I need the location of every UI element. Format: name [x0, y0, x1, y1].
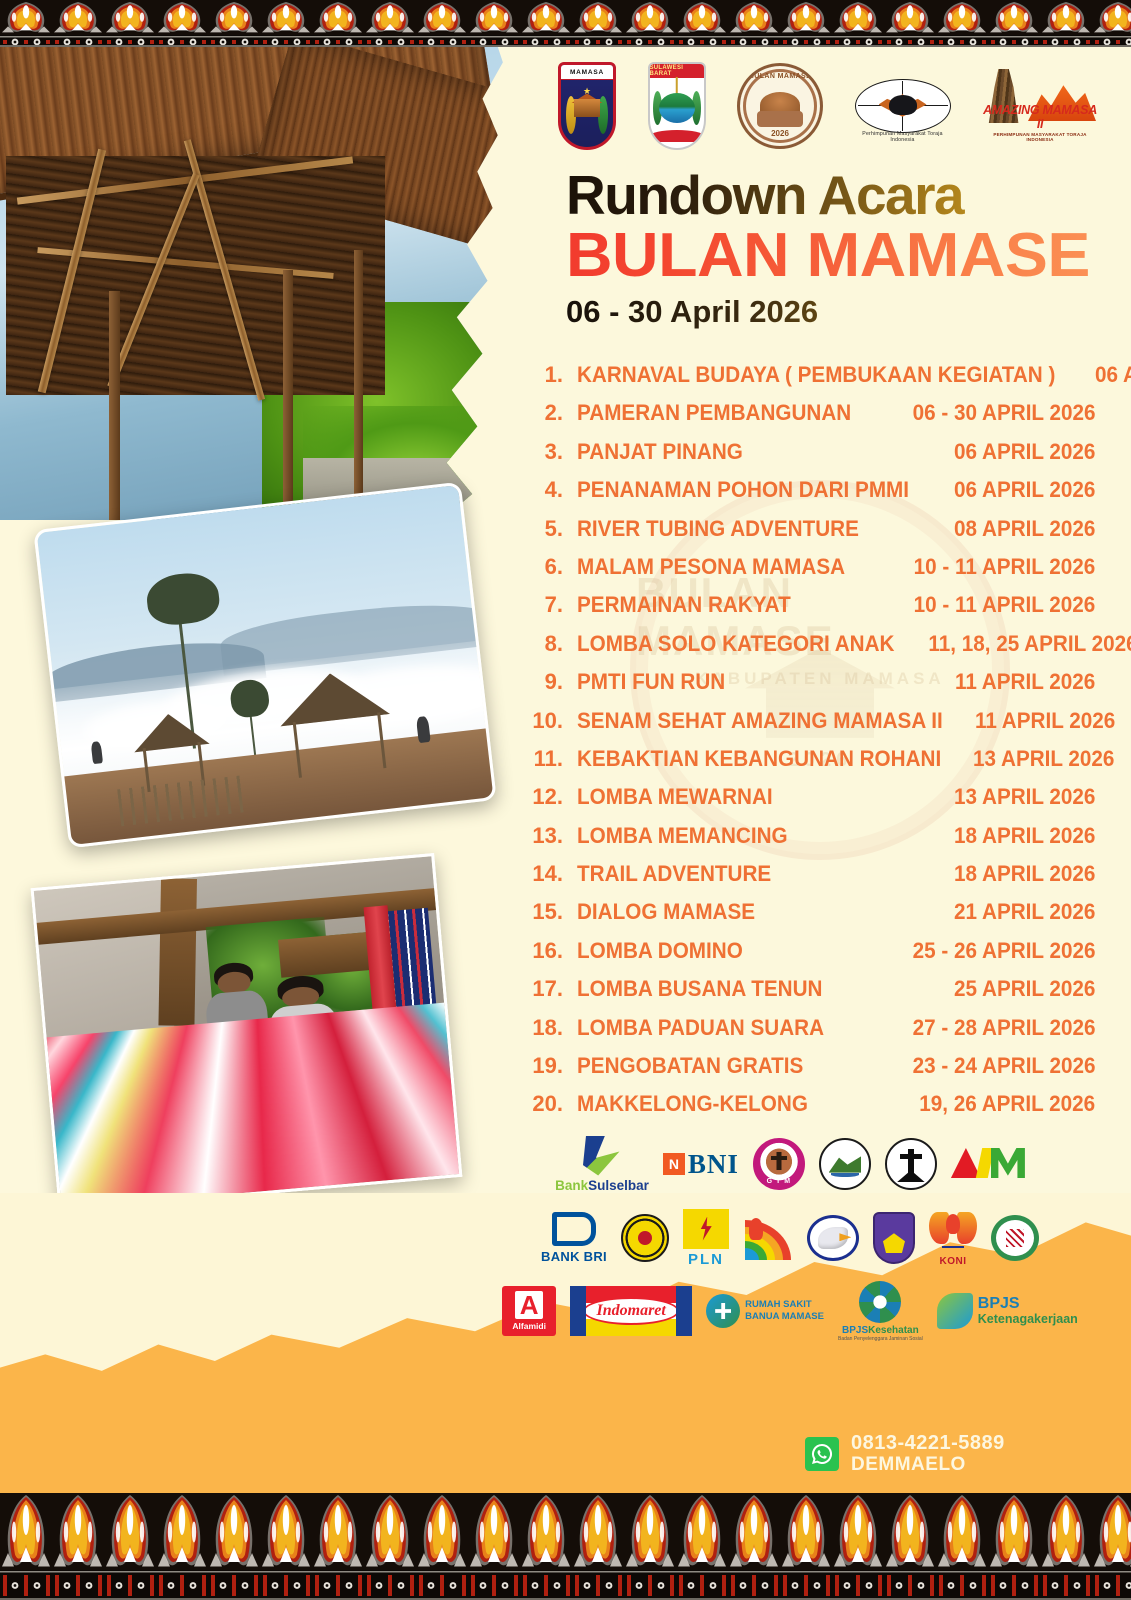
tongkonan-traditional-house-photo	[0, 0, 508, 520]
sulselbar-mark-icon	[583, 1136, 621, 1176]
event-row: 20.MAKKELONG-KELONG19, 26 APRIL 2026	[525, 1091, 1095, 1129]
shuttlecock-icon	[1006, 1229, 1024, 1247]
toraja-motif	[312, 0, 364, 47]
event-name: MALAM PESONA MAMASA	[577, 554, 882, 580]
toraja-motif	[520, 0, 572, 47]
toraja-motif	[1040, 0, 1092, 47]
indomaret-blue-right	[676, 1286, 692, 1336]
event-row: 1.KARNAVAL BUDAYA ( PEMBUKAAN KEGIATAN )…	[525, 362, 1095, 400]
event-row: 8.LOMBA SOLO KATEGORI ANAK11, 18, 25 APR…	[525, 631, 1095, 669]
event-name: PMTI FUN RUN	[577, 669, 924, 695]
event-number: 4.	[525, 477, 577, 503]
toraja-motif	[156, 0, 208, 47]
event-number: 19.	[525, 1053, 577, 1079]
indomaret-text: Indomaret	[583, 1297, 679, 1325]
contact-person-name: DEMMAELO	[851, 1454, 1005, 1475]
bni-logo: N BNI	[663, 1149, 739, 1180]
sponsor-row-3: A Alfamidi Indomaret RUMAH SAKIT BANUA M…	[480, 1278, 1100, 1344]
event-row: 7.PERMAINAN RAKYAT10 - 11 APRIL 2026	[525, 592, 1095, 630]
amazing-mamasa-subtitle: PERHIMPUNAN MASYARAKAT TORAJA INDONESIA	[982, 132, 1098, 142]
event-name: TRAIL ADVENTURE	[577, 861, 923, 887]
event-number: 10.	[525, 708, 577, 734]
seal-core-icon	[636, 1229, 654, 1247]
indomaret-blue-left	[570, 1286, 586, 1336]
lightning-bolt-icon	[698, 1217, 714, 1241]
event-name: PANJAT PINANG	[577, 439, 923, 465]
bpjs-t-text-2: Ketenagakerjaan	[978, 1313, 1078, 1327]
rumah-sakit-banua-mamase-logo: RUMAH SAKIT BANUA MAMASE	[706, 1294, 824, 1328]
event-number: 5.	[525, 516, 577, 542]
toraja-motif	[832, 1493, 884, 1600]
purple-shield-icon	[873, 1212, 915, 1264]
title-block: Rundown Acara BULAN MAMASE 06 - 30 April…	[566, 168, 1086, 330]
hospital-text-2: BANUA MAMASE	[745, 1311, 824, 1323]
misty-mountain-viewpoint-photo	[33, 482, 496, 849]
toraja-motif	[416, 0, 468, 47]
event-number: 9.	[525, 669, 577, 695]
toraja-motif	[936, 0, 988, 47]
event-name: PENANAMAN POHON DARI PMMI	[577, 477, 923, 503]
toraja-motif	[780, 0, 832, 47]
toraja-motif	[1092, 0, 1131, 47]
header-logo-row: MAMASA ★ SULAWESI BARAT BULAN MAMASE 202…	[558, 56, 1098, 156]
cross-vertical-icon	[776, 1152, 781, 1170]
event-name: LOMBA MEWARNAI	[577, 784, 923, 810]
bni-mark-icon: N	[663, 1153, 685, 1175]
event-number: 20.	[525, 1091, 577, 1117]
toraja-motif	[260, 1493, 312, 1600]
perhimpunan-masyarakat-toraja-indonesia-logo: Perhimpunan Masyarakat Toraja Indonesia	[855, 71, 951, 141]
toraja-motif	[780, 1493, 832, 1600]
toraja-pattern-strip	[0, 1493, 1131, 1600]
event-number: 3.	[525, 439, 577, 465]
medical-cross-icon	[715, 1303, 731, 1319]
cross-horizontal-icon	[771, 1156, 787, 1160]
bpjs-k-subtitle: Badan Penyelenggara Jaminan Sosial	[838, 1336, 923, 1342]
aim-letter-m-icon	[991, 1148, 1025, 1178]
event-row: 19.PENGOBATAN GRATIS23 - 24 APRIL 2026	[525, 1053, 1095, 1091]
toraja-motif	[1092, 1493, 1131, 1600]
event-number: 11.	[525, 746, 577, 772]
support-pole	[109, 291, 120, 520]
event-row: 15.DIALOG MAMASE21 APRIL 2026	[525, 899, 1095, 937]
eagle-club-logo	[807, 1215, 859, 1261]
toraja-motif	[52, 0, 104, 47]
event-date: 18 APRIL 2026	[954, 823, 1095, 849]
bpjs-ketenagakerjaan-mark-icon	[937, 1293, 973, 1329]
sponsor-logos: BankSulselbar N BNI G T M	[480, 1128, 1100, 1344]
amazing-mamasa-ii-logo: AMAZING MAMASA II PERHIMPUNAN MASYARAKAT…	[982, 67, 1098, 145]
toraja-motif	[260, 0, 312, 47]
pln-text: PLN	[688, 1251, 724, 1268]
toraja-motif	[572, 0, 624, 47]
event-date: 06 APRIL 2026	[954, 439, 1095, 465]
toraja-motif	[364, 1493, 416, 1600]
sport-event-logo	[743, 1216, 793, 1260]
contact-info[interactable]: 0813-4221-5889 DEMMAELO	[805, 1432, 1005, 1476]
event-row: 5.RIVER TUBING ADVENTURE08 APRIL 2026	[525, 516, 1095, 554]
toraja-motif	[0, 1493, 52, 1600]
bni-text: BNI	[688, 1149, 739, 1180]
event-date: 21 APRIL 2026	[954, 899, 1095, 925]
boat-icon	[831, 1173, 860, 1178]
seal-year: 2026	[740, 129, 820, 138]
toraja-motif	[364, 0, 416, 47]
event-row: 18.LOMBA PADUAN SUARA27 - 28 APRIL 2026	[525, 1015, 1095, 1053]
sulselbar-text-2: Sulselbar	[588, 1178, 649, 1193]
toraja-pattern-top-border	[0, 0, 1131, 47]
event-row: 12.LOMBA MEWARNAI13 APRIL 2026	[525, 784, 1095, 822]
event-date: 06 APRIL 2026	[954, 477, 1095, 503]
support-pole	[283, 270, 293, 520]
purple-shield-logo	[873, 1212, 915, 1264]
cross-arm-icon	[900, 1154, 922, 1159]
poster-subtitle: BULAN MAMASE	[566, 225, 1107, 287]
toraja-motif	[416, 1493, 468, 1600]
event-row: 17.LOMBA BUSANA TENUN25 APRIL 2026	[525, 976, 1095, 1014]
event-date: 08 APRIL 2026	[954, 516, 1095, 542]
event-row: 14.TRAIL ADVENTURE18 APRIL 2026	[525, 861, 1095, 899]
wooden-beam	[158, 878, 196, 1025]
toraja-motif	[884, 1493, 936, 1600]
gereja-toraja-logo	[885, 1138, 937, 1190]
event-number: 12.	[525, 784, 577, 810]
globe-icon	[659, 93, 695, 123]
event-number: 1.	[525, 362, 577, 388]
event-name: LOMBA BUSANA TENUN	[577, 976, 923, 1002]
wave-shape	[650, 130, 704, 142]
event-date: 11 APRIL 2026	[955, 669, 1095, 695]
shield-inner-icon	[883, 1233, 905, 1253]
bank-bri-logo: BANK BRI	[541, 1212, 607, 1264]
tongkonan-house-icon	[574, 99, 600, 117]
event-row: 9.PMTI FUN RUN11 APRIL 2026	[525, 669, 1095, 707]
toraja-motif	[728, 1493, 780, 1600]
whatsapp-icon[interactable]	[805, 1437, 839, 1471]
toraja-motif	[936, 1493, 988, 1600]
toraja-motif	[468, 1493, 520, 1600]
bank-sulselbar-logo: BankSulselbar	[555, 1136, 649, 1193]
toraja-motif	[104, 0, 156, 47]
flame-icon	[946, 1214, 960, 1234]
sponsor-row-1: BankSulselbar N BNI G T M	[480, 1128, 1100, 1200]
toraja-motif	[208, 0, 260, 47]
perhimpunan-masyarakat-mamasa-indonesia-logo	[819, 1138, 871, 1190]
aim-logo	[951, 1146, 1025, 1182]
event-number: 16.	[525, 938, 577, 964]
toraja-motif	[468, 0, 520, 47]
sulawesi-barat-crest: SULAWESI BARAT	[648, 62, 706, 150]
toraja-motif	[572, 1493, 624, 1600]
bpjs-k-text-1: BPJS	[842, 1325, 868, 1336]
sponsor-row-2: BANK BRI PLN	[480, 1202, 1100, 1274]
event-date: 06 APRIL 2026	[1095, 362, 1131, 388]
seal-base	[757, 111, 803, 127]
sulbar-crest-label: SULAWESI BARAT	[650, 64, 704, 78]
event-date: 23 - 24 APRIL 2026	[912, 1053, 1095, 1079]
event-row: 10.SENAM SEHAT AMAZING MAMASA II11 APRIL…	[525, 708, 1095, 746]
event-rundown-list: 1.KARNAVAL BUDAYA ( PEMBUKAAN KEGIATAN )…	[525, 362, 1095, 1130]
bri-mark-icon	[552, 1212, 596, 1246]
org-name: Perhimpunan Masyarakat Toraja Indonesia	[855, 131, 951, 143]
toraja-motif	[884, 0, 936, 47]
bpjs-t-text-1: BPJS	[978, 1295, 1078, 1313]
event-date: 06 - 30 APRIL 2026	[912, 400, 1095, 426]
event-name: PERMAINAN RAKYAT	[577, 592, 882, 618]
gtm-text: G T M	[755, 1178, 803, 1185]
event-number: 17.	[525, 976, 577, 1002]
pln-mark-icon	[683, 1209, 729, 1249]
toraja-pattern-strip	[0, 0, 1131, 47]
alfamidi-text: Alfamidi	[512, 1321, 546, 1331]
event-date: 11 APRIL 2026	[975, 708, 1115, 734]
event-name: PAMERAN PEMBANGUNAN	[577, 400, 881, 426]
event-name: LOMBA PADUAN SUARA	[577, 1015, 881, 1041]
pln-logo: PLN	[683, 1209, 729, 1268]
toraja-motif	[208, 1493, 260, 1600]
hill-icon	[829, 1154, 862, 1172]
olympic-rings-icon	[942, 1240, 964, 1248]
toraja-motif	[624, 1493, 676, 1600]
hospital-text-1: RUMAH SAKIT	[745, 1299, 824, 1311]
yellow-seal-icon	[621, 1214, 669, 1262]
alfamidi-logo: A Alfamidi	[502, 1286, 556, 1336]
event-date: 10 - 11 APRIL 2026	[913, 554, 1095, 580]
event-name: PENGOBATAN GRATIS	[577, 1053, 881, 1079]
event-date: 18 APRIL 2026	[954, 861, 1095, 887]
event-number: 6.	[525, 554, 577, 580]
event-name: RIVER TUBING ADVENTURE	[577, 516, 923, 542]
seal-title: BULAN MAMASE	[740, 73, 820, 80]
event-name: LOMBA DOMINO	[577, 938, 881, 964]
bpjs-ketenagakerjaan-logo: BPJS Ketenagakerjaan	[937, 1293, 1078, 1329]
event-date: 19, 26 APRIL 2026	[919, 1091, 1095, 1117]
event-name: SENAM SEHAT AMAZING MAMASA II	[577, 708, 943, 734]
event-row: 11.KEBAKTIAN KEBANGUNAN ROHANI13 APRIL 2…	[525, 746, 1095, 784]
yellow-seal-logo	[621, 1214, 669, 1262]
event-row: 4.PENANAMAN POHON DARI PMMI06 APRIL 2026	[525, 477, 1095, 515]
event-name: MAKKELONG-KELONG	[577, 1091, 888, 1117]
event-number: 7.	[525, 592, 577, 618]
badminton-circle-icon	[991, 1215, 1039, 1261]
event-name: KEBAKTIAN KEBANGUNAN ROHANI	[577, 746, 941, 772]
event-number: 13.	[525, 823, 577, 849]
sulselbar-text-1: Bank	[555, 1178, 588, 1193]
event-row: 2.PAMERAN PEMBANGUNAN06 - 30 APRIL 2026	[525, 400, 1095, 438]
gereja-toraja-mamasa-logo: G T M	[753, 1138, 805, 1190]
toraja-motif	[988, 1493, 1040, 1600]
toraja-motif	[728, 0, 780, 47]
toraja-motif	[988, 0, 1040, 47]
bpjs-kesehatan-mark-icon	[859, 1281, 901, 1323]
event-name: LOMBA MEMANCING	[577, 823, 923, 849]
bulan-mamase-seal: BULAN MAMASE 2026	[737, 63, 823, 149]
support-pole	[354, 250, 363, 520]
event-name: KARNAVAL BUDAYA ( PEMBUKAAN KEGIATAN )	[577, 362, 1055, 388]
mamasa-regency-crest: MAMASA ★	[558, 62, 616, 150]
event-date: 13 APRIL 2026	[954, 784, 1095, 810]
event-row: 3.PANJAT PINANG06 APRIL 2026	[525, 439, 1095, 477]
event-date: 13 APRIL 2026	[973, 746, 1114, 772]
amazing-mamasa-title: AMAZING MAMASA II	[982, 103, 1098, 131]
event-number: 2.	[525, 400, 577, 426]
poster-date-range: 06 - 30 April 2026	[566, 294, 1086, 330]
toraja-motif	[1040, 1493, 1092, 1600]
toraja-motif	[104, 1493, 156, 1600]
contact-phone-number: 0813-4221-5889	[851, 1432, 1005, 1454]
bpjs-kesehatan-logo: BPJSKesehatan Badan Penyelenggara Jamina…	[838, 1281, 923, 1342]
bri-text: BANK BRI	[541, 1249, 607, 1264]
hospital-mark-icon	[706, 1294, 740, 1328]
toraja-motif	[520, 1493, 572, 1600]
badminton-association-logo	[991, 1215, 1039, 1261]
cross-base-icon	[897, 1170, 925, 1182]
event-row: 16.LOMBA DOMINO25 - 26 APRIL 2026	[525, 938, 1095, 976]
event-name: LOMBA SOLO KATEGORI ANAK	[577, 631, 894, 657]
event-number: 14.	[525, 861, 577, 887]
koni-logo: KONI	[929, 1210, 977, 1267]
bird-body-icon	[889, 95, 917, 115]
toraja-motif	[676, 1493, 728, 1600]
event-name: DIALOG MAMASE	[577, 899, 923, 925]
koni-text: KONI	[939, 1256, 966, 1267]
event-number: 18.	[525, 1015, 577, 1041]
athlete-figure-icon	[749, 1218, 763, 1240]
poster-title: Rundown Acara	[566, 168, 1086, 223]
event-row: 6.MALAM PESONA MAMASA10 - 11 APRIL 2026	[525, 554, 1095, 592]
toraja-motif	[312, 1493, 364, 1600]
toraja-motif	[832, 0, 884, 47]
toraja-motif	[0, 0, 52, 47]
event-row: 13.LOMBA MEMANCING18 APRIL 2026	[525, 823, 1095, 861]
event-date: 25 - 26 APRIL 2026	[912, 938, 1095, 964]
toraja-pattern-bottom-border	[0, 1493, 1131, 1600]
event-number: 8.	[525, 631, 577, 657]
bpjs-k-text-2: Kesehatan	[868, 1325, 919, 1336]
toraja-motif	[156, 1493, 208, 1600]
event-date: 11, 18, 25 APRIL 2026	[928, 631, 1131, 657]
traditional-weaving-photo	[31, 853, 463, 1212]
toraja-motif	[52, 1493, 104, 1600]
event-date: 25 APRIL 2026	[954, 976, 1095, 1002]
mamasa-crest-label: MAMASA	[561, 65, 613, 80]
toraja-motif	[676, 0, 728, 47]
indomaret-logo: Indomaret	[570, 1286, 692, 1336]
alfamidi-letter-a-icon: A	[515, 1291, 543, 1319]
toraja-motif	[624, 0, 676, 47]
event-date: 10 - 11 APRIL 2026	[913, 592, 1095, 618]
event-number: 15.	[525, 899, 577, 925]
event-date: 27 - 28 APRIL 2026	[912, 1015, 1095, 1041]
